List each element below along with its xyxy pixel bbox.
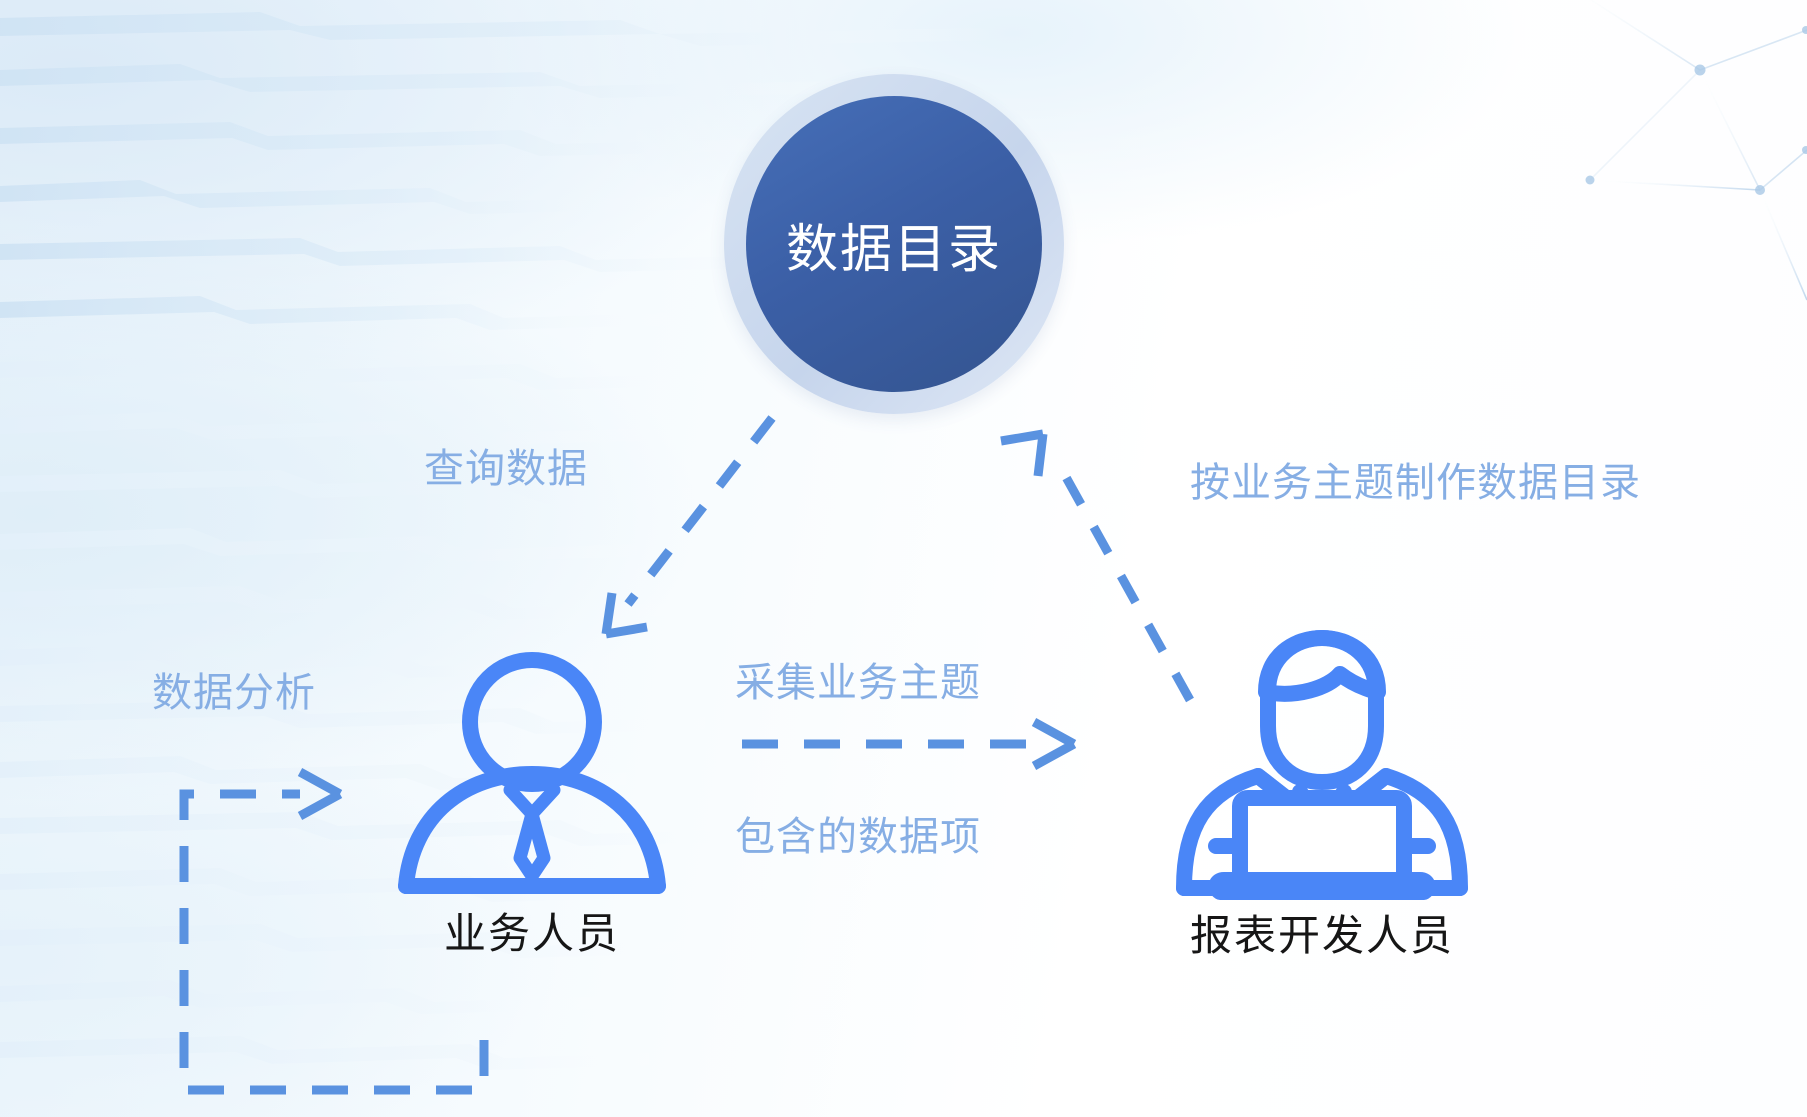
edge-label-collect-items-line1: 采集业务主题: [735, 658, 981, 709]
data-catalog-hub-inner: 数据目录: [746, 96, 1042, 392]
actor-business-person-label: 业务人员: [392, 900, 672, 961]
diagram-canvas: 数据目录 查询数据 按业务主题制作数据目录 采集业务主题 包含的数据项 数据分析: [0, 0, 1807, 1117]
report-developer-icon: [1162, 630, 1482, 900]
data-catalog-hub[interactable]: 数据目录: [724, 74, 1064, 414]
edge-label-collect-items-line2: 包含的数据项: [735, 812, 981, 863]
business-person-icon: [392, 648, 672, 898]
edge-label-build-catalog: 按业务主题制作数据目录: [1190, 458, 1641, 509]
data-catalog-label: 数据目录: [786, 207, 1002, 282]
edge-label-data-analysis: 数据分析: [152, 668, 316, 719]
actor-report-developer-label: 报表开发人员: [1162, 902, 1482, 963]
actor-report-developer[interactable]: 报表开发人员: [1162, 630, 1482, 963]
edge-label-query-data: 查询数据: [424, 444, 588, 495]
actor-business-person[interactable]: 业务人员: [392, 648, 672, 961]
edge-label-collect-items: 采集业务主题 包含的数据项: [735, 556, 981, 966]
